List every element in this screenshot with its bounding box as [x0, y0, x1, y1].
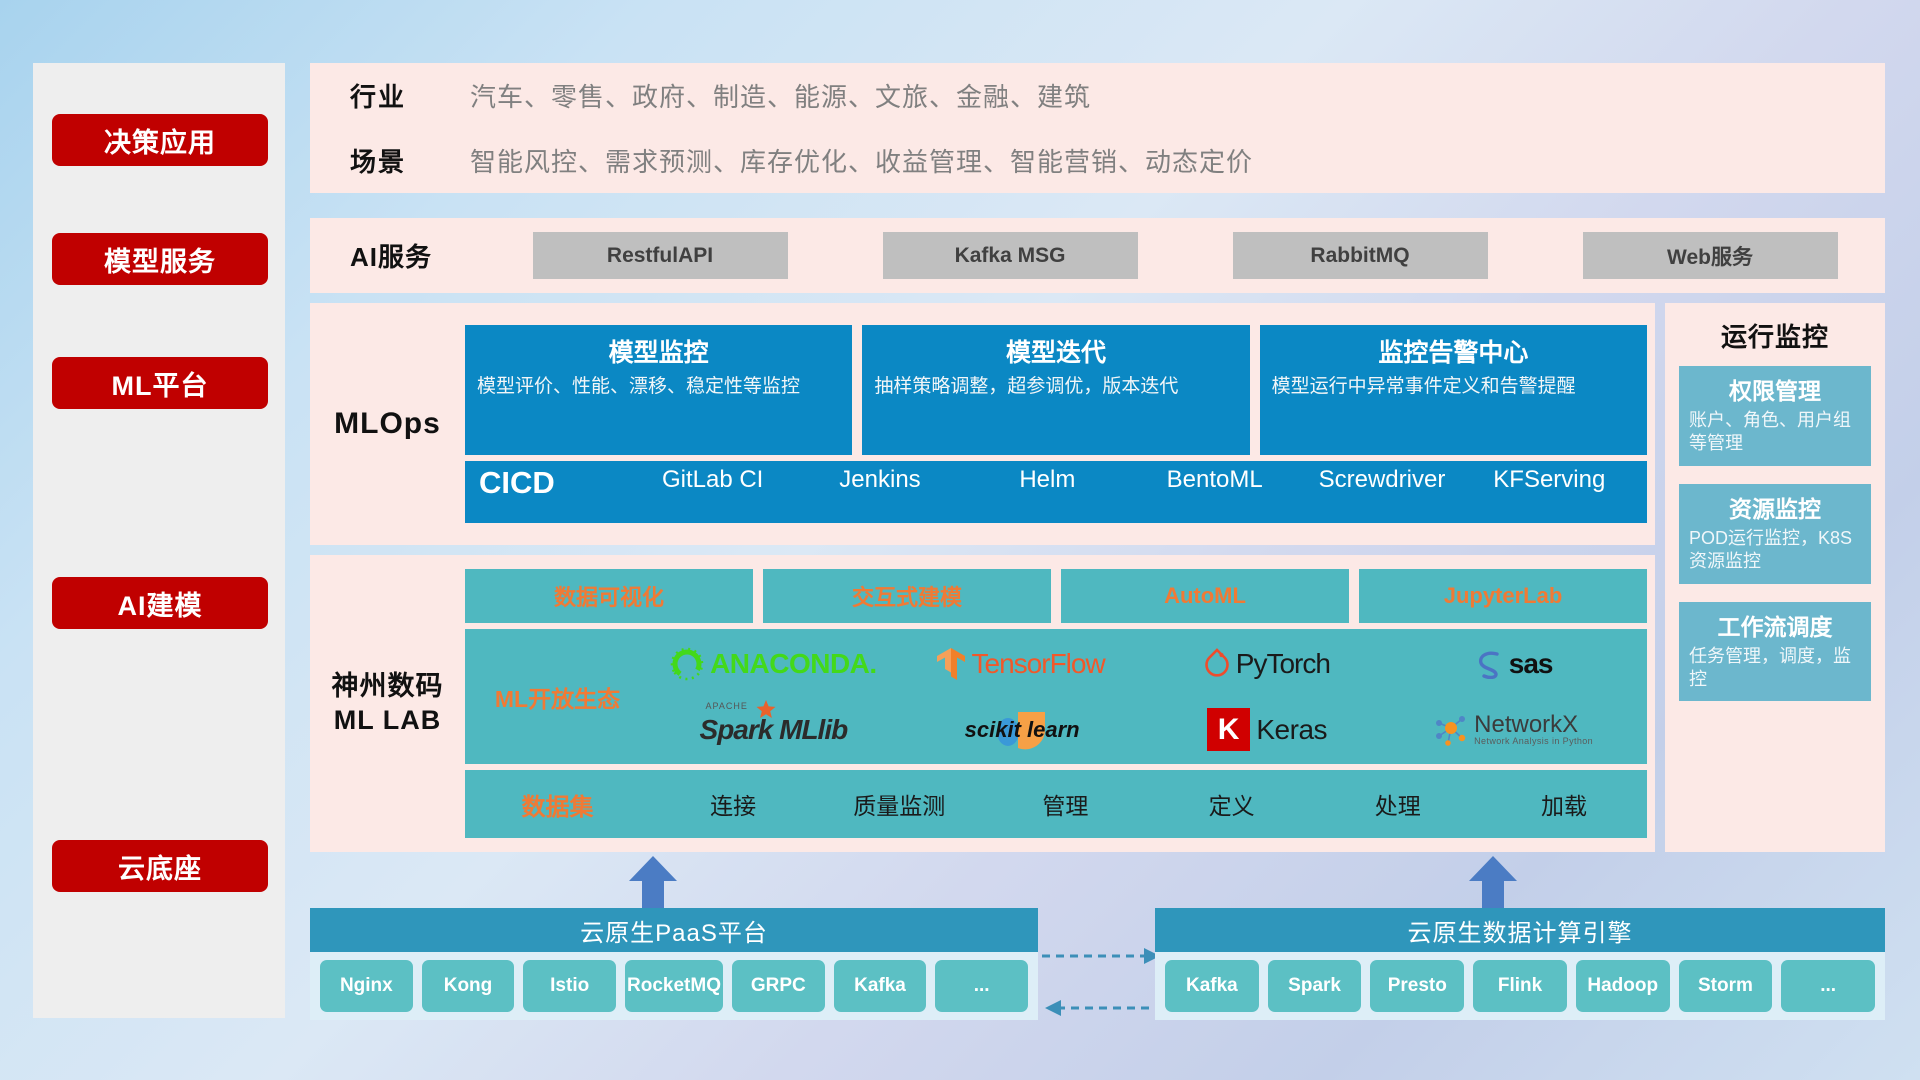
- cicd-item-bentoml[interactable]: BentoML: [1131, 467, 1298, 492]
- tab-jupyterlab[interactable]: JupyterLab: [1359, 569, 1647, 623]
- monitor-card-permissions[interactable]: 权限管理 账户、角色、用户组等管理: [1679, 366, 1871, 466]
- sidebar-item-label: ML平台: [112, 364, 209, 403]
- dataset-label: 数据集: [465, 787, 650, 822]
- data-chip-presto[interactable]: Presto: [1370, 960, 1464, 1012]
- sidebar-item-label: 模型服务: [104, 240, 216, 279]
- dataset-item-definition[interactable]: 定义: [1149, 787, 1315, 821]
- card-desc: 模型评价、性能、漂移、稳定性等监控: [477, 375, 840, 399]
- ecosystem-label: ML开放生态: [465, 680, 650, 714]
- panel-ai-service: AI服务 RestfulAPI Kafka MSG RabbitMQ Web服务: [310, 218, 1885, 293]
- logo-row-2: APACHE Spark MLlib scikit learn: [650, 698, 1637, 762]
- card-title: 权限管理: [1689, 372, 1861, 406]
- scenario-label: 场景: [350, 142, 470, 179]
- data-engine-chip-list: Kafka Spark Presto Flink Hadoop Storm ..…: [1155, 952, 1885, 1020]
- monitor-card-workflow-scheduling[interactable]: 工作流调度 任务管理，调度，监控: [1679, 602, 1871, 702]
- dataset-item-processing[interactable]: 处理: [1315, 787, 1481, 821]
- logo-row-1: ANACONDA. TensorFlow: [650, 632, 1637, 696]
- cicd-item-helm[interactable]: Helm: [964, 467, 1131, 492]
- logo-scikit-learn: scikit learn: [897, 708, 1144, 752]
- ml-lab-tool-tabs: 数据可视化 交互式建模 AutoML JupyterLab: [465, 569, 1647, 623]
- mlops-card-model-monitoring[interactable]: 模型监控 模型评价、性能、漂移、稳定性等监控: [465, 325, 852, 455]
- paas-chip-kafka[interactable]: Kafka: [834, 960, 927, 1012]
- dataset-item-loading[interactable]: 加载: [1481, 787, 1647, 821]
- paas-chip-kong[interactable]: Kong: [422, 960, 515, 1012]
- card-desc: 抽样策略调整，超参调优，版本迭代: [874, 375, 1237, 399]
- card-desc: 模型运行中异常事件定义和告警提醒: [1272, 375, 1635, 399]
- cicd-item-gitlab-ci[interactable]: GitLab CI: [629, 467, 796, 492]
- logo-sas: sas: [1390, 649, 1637, 679]
- tab-interactive-modeling[interactable]: 交互式建模: [763, 569, 1051, 623]
- cicd-label: CICD: [479, 467, 629, 500]
- data-chip-kafka[interactable]: Kafka: [1165, 960, 1259, 1012]
- cicd-item-kfserving[interactable]: KFServing: [1466, 467, 1633, 492]
- logo-label: PyTorch: [1236, 650, 1330, 678]
- dataset-item-management[interactable]: 管理: [982, 787, 1148, 821]
- sas-icon: [1475, 649, 1503, 679]
- anaconda-icon: [670, 647, 704, 681]
- sidebar-item-ml-platform[interactable]: ML平台: [52, 357, 268, 409]
- panel-decision-apps: 行业 汽车、零售、政府、制造、能源、文旅、金融、建筑 场景 智能风控、需求预测、…: [310, 63, 1885, 193]
- sidebar-item-model-service[interactable]: 模型服务: [52, 233, 268, 285]
- logo-label: NetworkX: [1474, 711, 1578, 738]
- monitor-title: 运行监控: [1665, 303, 1885, 366]
- logo-spark-mllib: APACHE Spark MLlib: [650, 716, 897, 744]
- keras-mark-icon: K: [1207, 708, 1251, 752]
- tab-automl[interactable]: AutoML: [1061, 569, 1349, 623]
- tensorflow-icon: [936, 647, 966, 681]
- logo-label: Keras: [1256, 716, 1327, 744]
- panel-runtime-monitoring: 运行监控 权限管理 账户、角色、用户组等管理 资源监控 POD运行监控，K8S资…: [1665, 303, 1885, 852]
- logo-label: TensorFlow: [972, 650, 1105, 678]
- ml-open-ecosystem: ML开放生态 ANACONDA.: [465, 629, 1647, 764]
- paas-chip-rocketmq[interactable]: RocketMQ: [625, 960, 723, 1012]
- logo-keras: K Keras: [1144, 708, 1391, 752]
- networkx-tagline: Network Analysis in Python: [1474, 737, 1593, 746]
- scenario-row: 场景 智能风控、需求预测、库存优化、收益管理、智能营销、动态定价: [310, 128, 1885, 193]
- data-chip-flink[interactable]: Flink: [1473, 960, 1567, 1012]
- industry-label: 行业: [350, 77, 470, 114]
- cicd-item-screwdriver[interactable]: Screwdriver: [1298, 467, 1465, 492]
- logo-label: ANACONDA.: [710, 650, 877, 678]
- cicd-bar: CICD GitLab CI Jenkins Helm BentoML Scre…: [465, 461, 1647, 523]
- pytorch-icon: [1204, 648, 1230, 680]
- data-engine-title: 云原生数据计算引擎: [1155, 908, 1885, 952]
- mlops-card-model-iteration[interactable]: 模型迭代 抽样策略调整，超参调优，版本迭代: [862, 325, 1249, 455]
- logo-anaconda: ANACONDA.: [650, 647, 897, 681]
- card-title: 监控告警中心: [1272, 333, 1635, 369]
- card-title: 资源监控: [1689, 490, 1861, 524]
- paas-title: 云原生PaaS平台: [310, 908, 1038, 952]
- card-desc: POD运行监控，K8S资源监控: [1689, 527, 1861, 574]
- dataset-bar: 数据集 连接 质量监测 管理 定义 处理 加载: [465, 770, 1647, 838]
- ai-service-chip-restfulapi[interactable]: RestfulAPI: [533, 232, 788, 279]
- card-desc: 账户、角色、用户组等管理: [1689, 409, 1861, 456]
- ml-lab-content: 数据可视化 交互式建模 AutoML JupyterLab ML开放生态 ANA…: [465, 569, 1655, 838]
- ml-lab-label: 神州数码 ML LAB: [310, 670, 465, 738]
- logo-pytorch: PyTorch: [1144, 648, 1391, 680]
- card-title: 工作流调度: [1689, 608, 1861, 642]
- industry-value: 汽车、零售、政府、制造、能源、文旅、金融、建筑: [470, 77, 1091, 114]
- paas-chip-istio[interactable]: Istio: [523, 960, 616, 1012]
- networkx-icon: [1434, 714, 1468, 746]
- up-arrow-data-engine-icon: [1465, 856, 1521, 912]
- bidirectional-dashed-arrows-icon: [1040, 946, 1165, 1018]
- ai-service-label: AI服务: [350, 237, 485, 274]
- layer-sidebar: 决策应用 模型服务 ML平台 AI建模 云底座: [33, 63, 285, 1018]
- data-chip-storm[interactable]: Storm: [1679, 960, 1773, 1012]
- mlops-card-list: 模型监控 模型评价、性能、漂移、稳定性等监控 模型迭代 抽样策略调整，超参调优，…: [465, 325, 1647, 455]
- tab-data-visualization[interactable]: 数据可视化: [465, 569, 753, 623]
- sidebar-item-label: AI建模: [118, 584, 203, 623]
- sidebar-item-cloud-base[interactable]: 云底座: [52, 840, 268, 892]
- ai-service-chip-web-service[interactable]: Web服务: [1583, 232, 1838, 279]
- dataset-item-connect[interactable]: 连接: [650, 787, 816, 821]
- sidebar-item-decision-apps[interactable]: 决策应用: [52, 114, 268, 166]
- spark-star-icon: [756, 700, 776, 720]
- mlops-card-alert-center[interactable]: 监控告警中心 模型运行中异常事件定义和告警提醒: [1260, 325, 1647, 455]
- monitor-card-resources[interactable]: 资源监控 POD运行监控，K8S资源监控: [1679, 484, 1871, 584]
- card-title: 模型迭代: [874, 333, 1237, 369]
- logo-tensorflow: TensorFlow: [897, 647, 1144, 681]
- paas-chip-list: Nginx Kong Istio RocketMQ GRPC Kafka ...: [310, 952, 1038, 1020]
- cicd-item-jenkins[interactable]: Jenkins: [796, 467, 963, 492]
- ecosystem-logo-grid: ANACONDA. TensorFlow: [650, 632, 1647, 762]
- paas-chip-grpc[interactable]: GRPC: [732, 960, 825, 1012]
- data-chip-more[interactable]: ...: [1781, 960, 1875, 1012]
- logo-networkx: NetworkX Network Analysis in Python: [1390, 713, 1637, 746]
- sidebar-item-label: 决策应用: [104, 121, 216, 160]
- card-desc: 任务管理，调度，监控: [1689, 645, 1861, 692]
- ai-service-chip-rabbitmq[interactable]: RabbitMQ: [1233, 232, 1488, 279]
- data-chip-spark[interactable]: Spark: [1268, 960, 1362, 1012]
- paas-chip-nginx[interactable]: Nginx: [320, 960, 413, 1012]
- card-title: 模型监控: [477, 333, 840, 369]
- panel-mlops: MLOps 模型监控 模型评价、性能、漂移、稳定性等监控 模型迭代 抽样策略调整…: [310, 303, 1655, 545]
- sidebar-item-ai-modeling[interactable]: AI建模: [52, 577, 268, 629]
- mlops-content: 模型监控 模型评价、性能、漂移、稳定性等监控 模型迭代 抽样策略调整，超参调优，…: [465, 325, 1655, 523]
- ai-service-chip-list: RestfulAPI Kafka MSG RabbitMQ Web服务: [485, 232, 1885, 279]
- logo-label: scikit learn: [965, 719, 1080, 741]
- panel-ml-lab: 神州数码 ML LAB 数据可视化 交互式建模 AutoML JupyterLa…: [310, 555, 1655, 852]
- ai-service-chip-kafka-msg[interactable]: Kafka MSG: [883, 232, 1138, 279]
- cloud-native-paas-block: 云原生PaaS平台 Nginx Kong Istio RocketMQ GRPC…: [310, 908, 1038, 1020]
- up-arrow-paas-icon: [625, 856, 681, 912]
- data-chip-hadoop[interactable]: Hadoop: [1576, 960, 1670, 1012]
- spark-apache-label: APACHE: [706, 701, 748, 711]
- sidebar-item-label: 云底座: [118, 847, 202, 886]
- dataset-item-quality-monitoring[interactable]: 质量监测: [816, 787, 982, 821]
- mlops-label: MLOps: [310, 407, 465, 441]
- paas-chip-more[interactable]: ...: [935, 960, 1028, 1012]
- logo-label: sas: [1509, 650, 1553, 678]
- cloud-native-data-engine-block: 云原生数据计算引擎 Kafka Spark Presto Flink Hadoo…: [1155, 908, 1885, 1020]
- industry-row: 行业 汽车、零售、政府、制造、能源、文旅、金融、建筑: [310, 63, 1885, 128]
- scenario-value: 智能风控、需求预测、库存优化、收益管理、智能营销、动态定价: [470, 142, 1253, 179]
